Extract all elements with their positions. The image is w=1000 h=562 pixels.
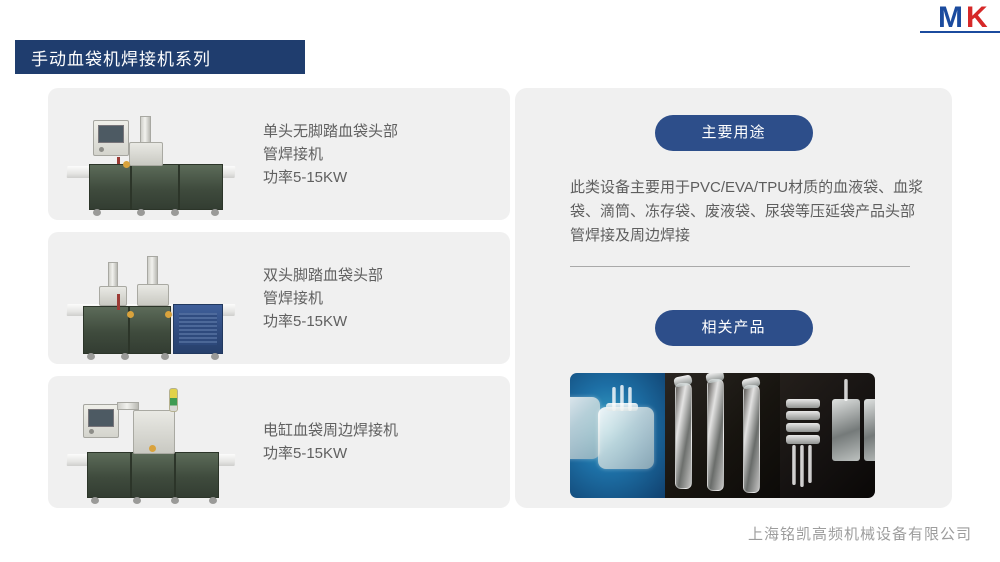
photo-segment-bag-sets: [780, 373, 875, 498]
product-card[interactable]: 单头无脚踏血袋头部 管焊接机 功率5-15KW: [48, 88, 510, 220]
double-head-pedal-welder-photo: [48, 234, 253, 362]
section-title-bar: 手动血袋机焊接机系列: [15, 40, 305, 74]
related-products-photo: [570, 373, 875, 498]
photo-segment-drip-chambers: [665, 373, 781, 498]
single-head-no-pedal-welder-photo: [48, 90, 253, 218]
panel-divider: [570, 266, 910, 267]
slide-canvas: M K 手动血袋机焊接机系列: [0, 0, 1000, 562]
main-use-pill[interactable]: 主要用途: [655, 115, 813, 151]
electric-cylinder-perimeter-welder-photo: [48, 378, 253, 506]
info-panel: 主要用途 此类设备主要用于PVC/EVA/TPU材质的血液袋、血浆袋、滴筒、冻存…: [515, 88, 952, 508]
product-card[interactable]: 电缸血袋周边焊接机 功率5-15KW: [48, 376, 510, 508]
svg-text:K: K: [966, 1, 988, 34]
product-card-list: 单头无脚踏血袋头部 管焊接机 功率5-15KW: [48, 88, 510, 508]
product-card-label: 单头无脚踏血袋头部 管焊接机 功率5-15KW: [253, 120, 510, 189]
product-card-label: 双头脚踏血袋头部 管焊接机 功率5-15KW: [253, 264, 510, 333]
company-footer: 上海铭凯高频机械设备有限公司: [748, 523, 972, 544]
related-products-pill[interactable]: 相关产品: [655, 310, 813, 346]
photo-segment-blood-bags: [570, 373, 665, 498]
svg-text:M: M: [938, 1, 963, 34]
page-title: 手动血袋机焊接机系列: [31, 45, 211, 70]
product-card-label: 电缸血袋周边焊接机 功率5-15KW: [253, 419, 510, 465]
main-use-description: 此类设备主要用于PVC/EVA/TPU材质的血液袋、血浆袋、滴筒、冻存袋、废液袋…: [570, 176, 927, 248]
mk-logo: M K: [880, 0, 1000, 36]
product-card[interactable]: 双头脚踏血袋头部 管焊接机 功率5-15KW: [48, 232, 510, 364]
